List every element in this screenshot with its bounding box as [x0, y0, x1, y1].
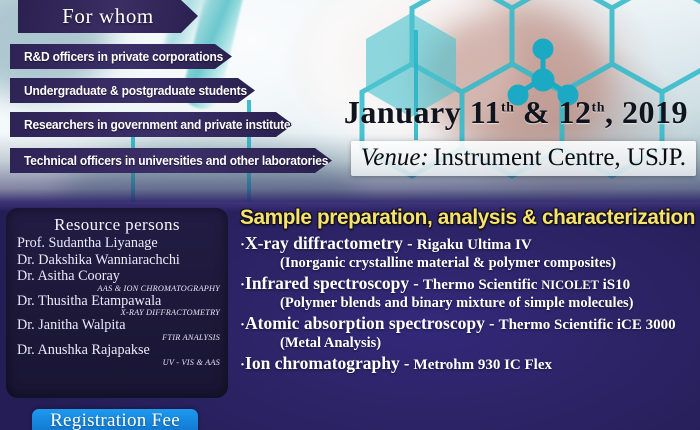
- resource-person-name: Dr. Janitha Walpita: [17, 317, 228, 334]
- technique-name: Atomic absorption spectroscopy: [245, 313, 485, 333]
- technique-dash: -: [400, 354, 414, 373]
- technique-note: (Polymer blends and binary mixture of si…: [280, 295, 700, 312]
- resource-persons-box: Resource persons Prof. Sudantha Liyanage…: [6, 208, 228, 398]
- resource-person-speciality: AAS & ION CHROMATOGRAPHY: [6, 284, 228, 293]
- audience-banner-4[interactable]: Technical officers in universities and o…: [10, 148, 346, 173]
- technique-instrument-tail: iS10: [599, 277, 630, 293]
- for-whom-banner: For whom: [18, 0, 198, 33]
- technique-dash: -: [409, 274, 423, 293]
- resource-person-name: Dr. Dakshika Wanniarachchi: [17, 252, 228, 269]
- date-month: January: [344, 94, 461, 130]
- registration-fee-label: Registration Fee: [50, 410, 180, 430]
- technique-dash: -: [403, 234, 417, 253]
- technique-instrument: Thermo Scientific: [423, 277, 541, 293]
- venue-value: Instrument Centre, USJP.: [433, 144, 686, 171]
- technique-instrument: Rigaku Ultima IV: [417, 237, 532, 253]
- resource-person-name: Dr. Thusitha Etampawala: [17, 293, 228, 310]
- audience-label-4: Technical officers in universities and o…: [24, 154, 328, 168]
- technique-dash: -: [485, 314, 499, 333]
- audience-banner-3[interactable]: Researchers in government and private in…: [10, 112, 307, 137]
- audience-banner-2[interactable]: Undergraduate & postgraduate students: [10, 78, 269, 103]
- technique-name: Infrared spectroscopy: [245, 273, 409, 293]
- details-panel: Resource persons Prof. Sudantha Liyanage…: [0, 202, 700, 430]
- technique-instrument: Thermo Scientific iCE 3000: [499, 317, 676, 333]
- date-day-2-suffix: th: [592, 100, 605, 115]
- resource-person-speciality: FTIR ANALYSIS: [6, 333, 228, 342]
- technique-name: X-ray diffractometry: [245, 233, 403, 253]
- technique-name: Ion chromatography: [245, 353, 400, 373]
- program-content: Sample preparation, analysis & character…: [238, 204, 700, 375]
- technique-note: (Inorganic crystalline material & polyme…: [280, 255, 700, 272]
- technique-item: ·Atomic absorption spectroscopy - Thermo…: [240, 313, 700, 352]
- audience-label-3: Researchers in government and private in…: [24, 118, 297, 132]
- technique-item: ·Ion chromatography - Metrohm 930 IC Fle…: [240, 353, 700, 374]
- registration-fee-banner[interactable]: Registration Fee: [32, 409, 198, 430]
- audience-label-2: Undergraduate & postgraduate students: [24, 84, 247, 98]
- technique-note: (Metal Analysis): [280, 335, 700, 352]
- date-year: , 2019: [605, 94, 688, 130]
- technique-item: ·X-ray diffractometry - Rigaku Ultima IV…: [240, 233, 700, 272]
- technique-instrument: Metrohm 930 IC Flex: [414, 357, 552, 373]
- audience-banner-1[interactable]: R&D officers in private corporations: [10, 44, 246, 69]
- venue-label: Venue:: [361, 144, 429, 171]
- program-section-title: Sample preparation, analysis & character…: [240, 206, 695, 230]
- audience-label-1: R&D officers in private corporations: [24, 50, 223, 64]
- for-whom-label: For whom: [62, 4, 154, 29]
- poster-root: For whom R&D officers in private corpora…: [0, 0, 700, 430]
- resource-persons-title: Resource persons: [6, 215, 228, 235]
- date-ampersand: &: [523, 94, 550, 130]
- resource-person-name: Prof. Sudantha Liyanage: [17, 235, 228, 252]
- event-date: January 11th & 12th, 2019: [344, 94, 688, 131]
- venue-banner: Venue: Instrument Centre, USJP.: [351, 141, 696, 176]
- resource-person-name: Dr. Anushka Rajapakse: [17, 342, 228, 359]
- date-day-1: 11: [470, 94, 501, 130]
- technique-item: ·Infrared spectroscopy - Thermo Scientif…: [240, 273, 700, 312]
- resource-person-speciality: UV - VIS & AAS: [6, 358, 228, 367]
- technique-instrument-smallcaps: NICOLET: [541, 278, 599, 292]
- date-day-2: 12: [559, 94, 592, 130]
- date-day-1-suffix: th: [501, 100, 514, 115]
- resource-person-name: Dr. Asitha Cooray: [17, 268, 228, 285]
- resource-person-speciality: X-RAY DIFFRACTOMETRY: [6, 308, 228, 317]
